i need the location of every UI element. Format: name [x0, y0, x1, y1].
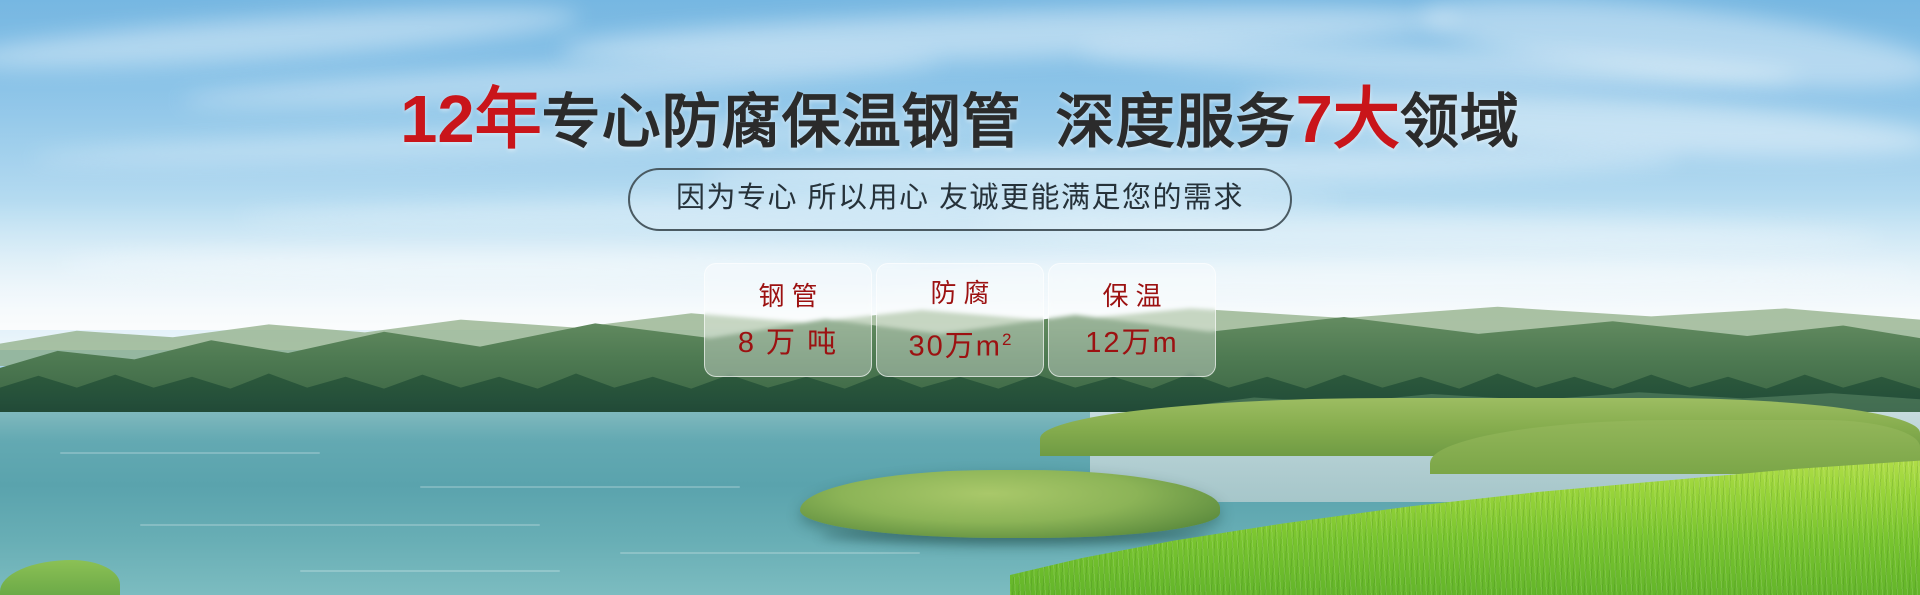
stat-card-value: 8 万 吨 [738, 321, 838, 365]
stat-card-value: 12万m [1085, 321, 1178, 365]
banner-content: 12年专心防腐保温钢管深度服务7大领域 因为专心 所以用心 友诚更能满足您的需求… [0, 0, 1920, 595]
banner-subtitle-pill: 因为专心 所以用心 友诚更能满足您的需求 [628, 168, 1292, 231]
stat-card-value-superscript: 2 [1002, 330, 1011, 349]
stat-card-title: 防腐 [923, 276, 996, 310]
hero-banner: 12年专心防腐保温钢管深度服务7大领域 因为专心 所以用心 友诚更能满足您的需求… [0, 0, 1920, 595]
banner-headline: 12年专心防腐保温钢管深度服务7大领域 [0, 85, 1920, 157]
stat-card-steel-pipe[interactable]: 钢管 8 万 吨 [704, 263, 872, 377]
headline-fields-count: 7大 [1296, 82, 1400, 157]
headline-fields-text: 领域 [1400, 89, 1520, 155]
banner-subtitle-row: 因为专心 所以用心 友诚更能满足您的需求 [0, 168, 1920, 231]
stat-card-group: 钢管 8 万 吨 防腐 30万m2 保温 12万m [0, 263, 1920, 377]
stat-card-value-text: 30万m [909, 330, 1002, 362]
headline-main-text: 专心防腐保温钢管 [542, 89, 1022, 155]
stat-card-value: 30万m2 [909, 318, 1012, 369]
stat-card-insulation[interactable]: 保温 12万m [1048, 263, 1216, 377]
headline-years: 12年 [400, 82, 542, 157]
stat-card-value-text: 8 万 吨 [738, 327, 838, 359]
stat-card-title: 保温 [1095, 279, 1168, 313]
stat-card-value-text: 12万m [1085, 327, 1178, 359]
stat-card-title: 钢管 [751, 279, 824, 313]
stat-card-anticorrosion[interactable]: 防腐 30万m2 [876, 263, 1044, 377]
headline-service-text: 深度服务 [1056, 89, 1296, 155]
